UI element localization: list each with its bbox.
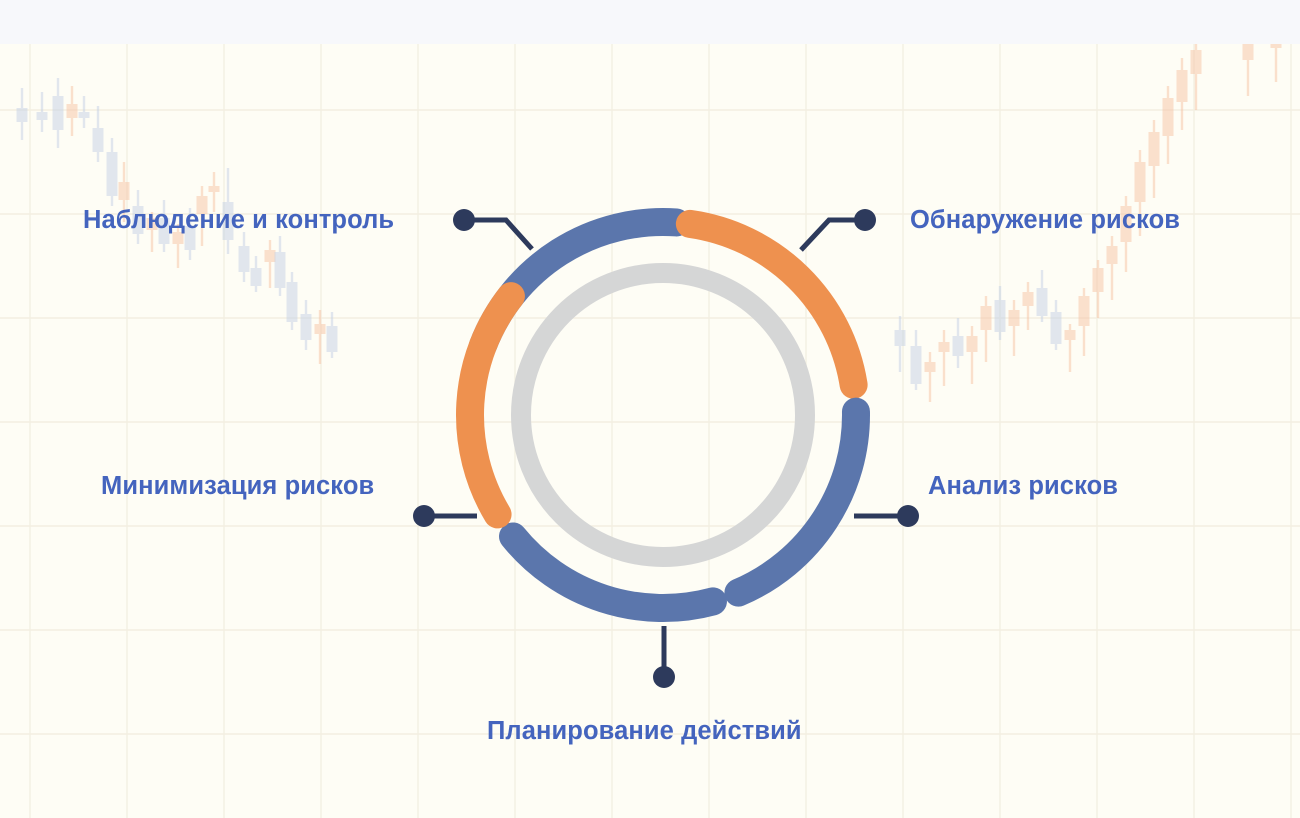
ring-segment-detection[interactable] bbox=[690, 224, 854, 385]
connector-dot-minimization[interactable] bbox=[413, 505, 435, 527]
ring-segment-minimization[interactable] bbox=[470, 296, 511, 514]
connector-line-detection bbox=[801, 220, 859, 250]
connector-line-monitoring bbox=[470, 220, 532, 249]
segment-label-analysis[interactable]: Анализ рисков bbox=[928, 474, 1118, 500]
cycle-ring-diagram bbox=[0, 0, 1300, 818]
segment-label-planning[interactable]: Планирование действий bbox=[487, 719, 802, 745]
connector-dot-analysis[interactable] bbox=[897, 505, 919, 527]
segment-label-minimization[interactable]: Минимизация рисков bbox=[101, 474, 374, 500]
connector-dot-monitoring[interactable] bbox=[453, 209, 475, 231]
connector-dot-detection[interactable] bbox=[854, 209, 876, 231]
segment-label-monitoring[interactable]: Наблюдение и контроль bbox=[83, 208, 394, 234]
diagram-canvas: Наблюдение и контроль Обнаружение рисков… bbox=[0, 0, 1300, 818]
segment-label-detection[interactable]: Обнаружение рисков bbox=[910, 208, 1180, 234]
connector-dot-planning[interactable] bbox=[653, 666, 675, 688]
inner-ring bbox=[521, 273, 805, 557]
